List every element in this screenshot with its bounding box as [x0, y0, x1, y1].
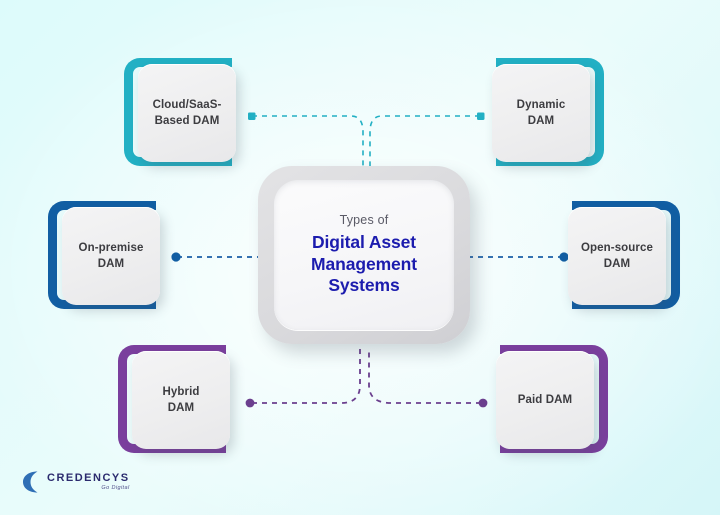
node-label: Cloud/SaaS- Based DAM: [153, 97, 222, 130]
node-card[interactable]: Dynamic DAM: [492, 64, 590, 162]
node-card[interactable]: Cloud/SaaS- Based DAM: [138, 64, 236, 162]
connector-paid: [369, 348, 487, 407]
node-dynamic-dam[interactable]: Dynamic DAM: [496, 58, 604, 166]
connector-endpoint-dot: [248, 113, 256, 121]
node-card[interactable]: Hybrid DAM: [132, 351, 230, 449]
center-hub[interactable]: Types of Digital Asset Management System…: [258, 166, 470, 344]
connector-on-premise: [171, 252, 258, 261]
connector-cloud-saas: [248, 113, 363, 169]
node-card[interactable]: Open-source DAM: [568, 207, 666, 305]
connector-dynamic: [370, 113, 485, 169]
connector-hybrid: [246, 348, 360, 407]
node-card[interactable]: On-premise DAM: [62, 207, 160, 305]
node-open-source-dam[interactable]: Open-source DAM: [572, 201, 680, 309]
credencys-swoosh-icon: [22, 470, 42, 494]
connector-endpoint-dot: [479, 399, 488, 408]
infographic-canvas: Cloud/SaaS- Based DAM Dynamic DAM On-pre…: [0, 0, 720, 515]
hub-title: Digital Asset Management Systems: [311, 232, 417, 297]
node-hybrid-dam[interactable]: Hybrid DAM: [118, 345, 226, 453]
logo-wordmark: CREDENCYS: [47, 473, 130, 484]
node-label: On-premise DAM: [79, 240, 144, 273]
node-label: Hybrid DAM: [162, 384, 199, 417]
logo-text-block: CREDENCYS Go Digital: [47, 473, 130, 492]
connector-endpoint-dot: [246, 399, 255, 408]
node-cloud-saas-dam[interactable]: Cloud/SaaS- Based DAM: [124, 58, 232, 166]
node-on-premise-dam[interactable]: On-premise DAM: [48, 201, 156, 309]
connector-open-source: [470, 252, 569, 261]
connector-endpoint-dot: [477, 113, 485, 121]
node-label: Open-source DAM: [581, 240, 653, 273]
connector-endpoint-dot: [171, 252, 180, 261]
node-paid-dam[interactable]: Paid DAM: [500, 345, 608, 453]
logo-tagline: Go Digital: [101, 486, 129, 492]
node-label: Dynamic DAM: [517, 97, 566, 130]
credencys-logo[interactable]: CREDENCYS Go Digital: [22, 470, 130, 494]
hub-inner-panel: Types of Digital Asset Management System…: [274, 180, 454, 330]
node-label: Paid DAM: [518, 392, 572, 408]
node-card[interactable]: Paid DAM: [496, 351, 594, 449]
hub-eyebrow: Types of: [340, 213, 389, 227]
